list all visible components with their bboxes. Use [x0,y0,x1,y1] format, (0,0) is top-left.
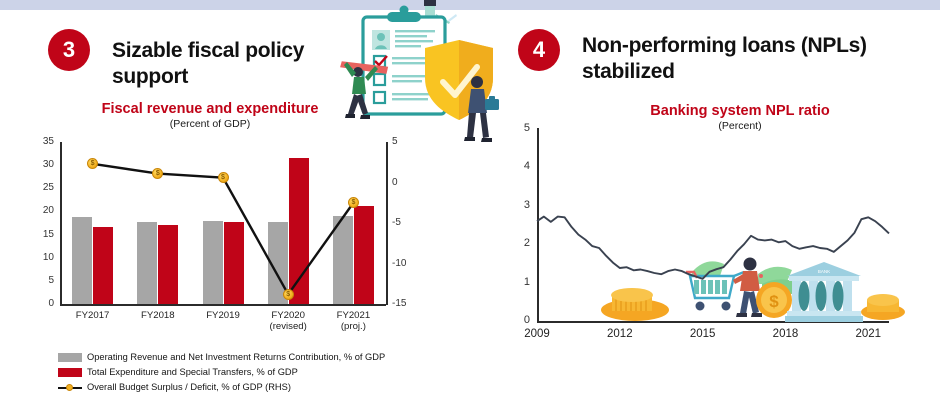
legend-label: Total Expenditure and Special Transfers,… [87,367,298,377]
coin-marker: $ [283,289,294,300]
legend-swatch-line [58,383,82,392]
npl-ratio-line [500,0,940,360]
coin-marker: $ [218,172,229,183]
npl-chart: 012345 20092012201520182021 [500,0,940,360]
panel-npl: 4 Non-performing loans (NPLs) stabilized… [500,0,940,400]
legend-item: Overall Budget Surplus / Deficit, % of G… [58,382,385,392]
panel-fiscal: 3 Sizable fiscal policy support Fiscal r… [0,0,500,400]
legend-item: Total Expenditure and Special Transfers,… [58,367,385,377]
legend-label: Overall Budget Surplus / Deficit, % of G… [87,382,291,392]
fiscal-chart: 05101520253035 50-5-10-15 FY2017FY2018FY… [0,0,440,340]
legend-swatch-rev [58,353,82,362]
legend-label: Operating Revenue and Net Investment Ret… [87,352,385,362]
legend-item: Operating Revenue and Net Investment Ret… [58,352,385,362]
legend-swatch-exp [58,368,82,377]
fiscal-legend: Operating Revenue and Net Investment Ret… [58,352,385,397]
fiscal-deficit-line [0,0,440,340]
